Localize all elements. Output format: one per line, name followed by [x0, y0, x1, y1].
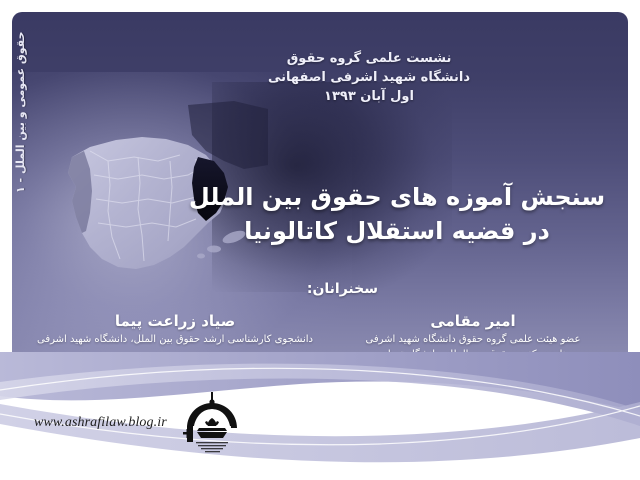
speaker-card-2: صیاد زراعت پیما دانشجوی کارشناسی ارشد حق… [30, 312, 320, 348]
logo-caption-strokes [196, 442, 228, 452]
poster-footer: www.ashrafilaw.blog.ir [34, 390, 243, 456]
speaker-2-name: صیاد زراعت پیما [30, 312, 320, 330]
speaker-1-affiliation-1: عضو هیئت علمی گروه حقوق دانشگاه شهید اشر… [328, 333, 618, 348]
sidebar-vertical-caption: حقوق عمومی و بین الملل - ۱ [14, 22, 42, 202]
speaker-1-name: امیر مقامی [328, 312, 618, 330]
event-header: نشست علمی گروه حقوق دانشگاه شهید اشرفی ا… [268, 50, 470, 107]
header-line-2: دانشگاه شهید اشرفی اصفهانی [268, 69, 470, 88]
title-line-2: در قضیه استقلال کاتالونیا [182, 214, 612, 248]
poster-slide: حقوق عمومی و بین الملل - ۱ [0, 0, 640, 480]
header-line-3: اول آبان ۱۳۹۳ [268, 88, 470, 107]
header-line-1: نشست علمی گروه حقوق [268, 50, 470, 69]
site-url-link[interactable]: www.ashrafilaw.blog.ir [34, 415, 167, 431]
speakers-label: سخنرانان: [307, 281, 378, 297]
speaker-card-1: امیر مقامی عضو هیئت علمی گروه حقوق دانشگ… [328, 312, 618, 362]
speaker-1-affiliation-2: نامزد دکتری حقوق بین الملل، دانشگاه تهرا… [328, 348, 618, 363]
speaker-2-affiliation-1: دانشجوی کارشناسی ارشد حقوق بین الملل، دا… [30, 333, 320, 348]
title-line-1: سنجش آموزه های حقوق بین الملل [182, 180, 612, 214]
university-logo-icon [181, 390, 243, 456]
poster-title: سنجش آموزه های حقوق بین الملل در قضیه اس… [182, 180, 612, 248]
